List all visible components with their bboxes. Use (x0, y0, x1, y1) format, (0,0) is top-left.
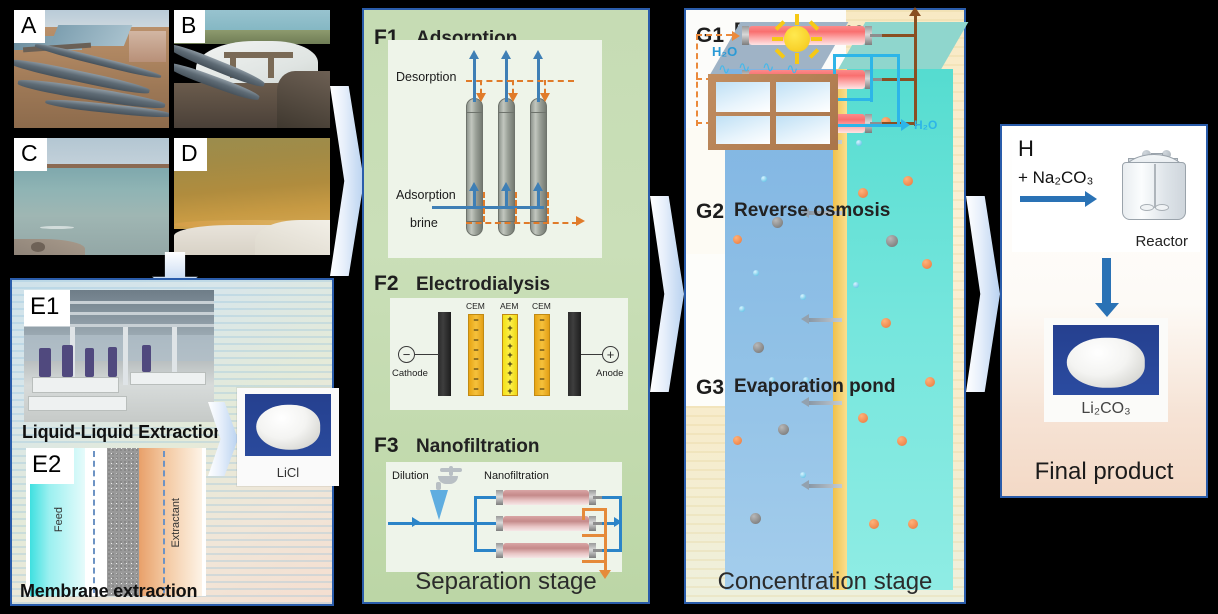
powder-pile (1067, 338, 1145, 388)
membrane-tag-aem: AEM (500, 301, 518, 311)
extraction-panel: E1 Liquid-Liquid Extraction Feed Extract… (10, 278, 334, 606)
spent-brine-riser (483, 192, 485, 222)
pond-cell (776, 82, 830, 112)
extractant-label: Extractant (170, 498, 182, 548)
feed-branch (474, 549, 496, 552)
brine-pond-pipes-photo: B (174, 10, 330, 128)
permeate-line (833, 98, 873, 101)
panel-label-f2: F2 (374, 272, 399, 296)
brown-brine-salt-crust-photo: D (174, 138, 330, 255)
powder-pile (256, 405, 320, 450)
nanofiltration-module (503, 516, 589, 531)
spent-brine-arrowhead (576, 216, 585, 226)
anode-wire (581, 354, 603, 355)
interface-line (93, 451, 95, 593)
concentration-stage-footer: Concentration stage (686, 568, 964, 596)
feed-solution-chamber (847, 69, 953, 590)
liquid-liquid-extraction-plant-photo: E1 (24, 290, 214, 422)
membrane-charge: − (539, 365, 544, 374)
photo-label-d: D (174, 138, 207, 171)
f3-title: Nanofiltration (416, 436, 540, 458)
concentrate-line (582, 560, 606, 563)
ion-particle (858, 413, 868, 423)
water-flux-arrow (808, 318, 842, 322)
membrane-charge: − (539, 346, 544, 355)
mixer-unit (108, 347, 118, 377)
permeate-header (897, 54, 900, 126)
feed-branch (696, 34, 732, 36)
photo-label-c: C (14, 138, 47, 171)
panel-label-g2: G2 (696, 200, 724, 224)
pond-cell (716, 116, 770, 144)
nanofiltration-diagram: Dilution Nanofiltration (386, 462, 622, 572)
final-product-inset: Li₂CO₃ (1044, 318, 1168, 422)
membrane-charge: − (473, 326, 478, 335)
separation-stage-footer: Separation stage (364, 568, 648, 596)
permeate-riser (870, 54, 873, 102)
electrodialysis-diagram: CEM AEM CEM − − − − − − − − + + + + + + … (390, 298, 628, 410)
membrane-tag-cem-2: CEM (532, 301, 551, 311)
membrane-extraction-diagram: Feed Extractant E2 (26, 448, 206, 596)
desorption-feed-line (466, 80, 574, 82)
module-end-cap (496, 490, 503, 505)
reactor-step: H + Na₂CO₃ Reactor (1012, 134, 1200, 252)
adsorption-diagram: Desorption Adsorption brine (388, 40, 602, 258)
concentrate-line (582, 534, 606, 537)
sun-icon (795, 14, 799, 25)
mixer-unit (62, 345, 73, 377)
dirt-mound (277, 71, 330, 128)
source-photo-grid: A B C D (14, 10, 330, 255)
reactor-label: Reactor (1135, 233, 1188, 250)
interface-line (163, 451, 165, 593)
brine-canal-pipes-photo: A (14, 10, 169, 128)
water-flux-arrow (808, 484, 842, 488)
stirrer-shaft (1154, 164, 1156, 208)
brine-inlet-arrow (473, 190, 476, 208)
licl-caption: LiCl (237, 465, 339, 480)
nanofiltration-module (503, 543, 589, 558)
e2-caption: Membrane extraction (20, 581, 197, 602)
nanofiltration-module (503, 490, 589, 505)
membrane-charge: − (539, 316, 544, 325)
settler-tank (28, 396, 127, 412)
reagent-feed-arrow (1020, 196, 1086, 202)
water-vapor-label: H₂O (712, 44, 737, 59)
brine-label: brine (410, 216, 438, 230)
concentrate-riser (604, 508, 607, 558)
lithium-carbonate-powder-photo (1053, 325, 1159, 395)
vapor-squiggle: ∿ (762, 60, 775, 75)
canal-water (50, 25, 133, 46)
brine-inlet-arrow (505, 190, 508, 208)
sun-icon (784, 26, 810, 52)
cathode-terminal: − (398, 346, 415, 363)
dilution-spray (430, 490, 448, 520)
membrane-charge: − (539, 385, 544, 394)
dilution-label: Dilution (392, 470, 429, 482)
water-molecule (856, 140, 862, 146)
module-end-cap (742, 26, 749, 45)
nanofiltration-module-label: Nanofiltration (484, 470, 549, 482)
product-formula-label: Li₂CO₃ (1044, 400, 1168, 418)
g2-title: Reverse osmosis (734, 200, 890, 222)
pond-cell (776, 116, 830, 144)
module-end-cap (496, 516, 503, 531)
concentrate-line (582, 508, 606, 511)
membrane-charge: + (507, 387, 512, 396)
product-flow-arrow (1102, 258, 1111, 304)
feed-arrowhead (412, 517, 420, 527)
desorption-down-arrow (480, 80, 482, 94)
rock (31, 242, 45, 251)
sun-icon (811, 37, 822, 41)
membrane-charge: − (539, 355, 544, 364)
module-end-cap (496, 543, 503, 558)
feed-label: Feed (53, 507, 65, 532)
stirrer-blade (1140, 204, 1154, 211)
concentrate-arrowhead (909, 7, 921, 16)
cation-exchange-membrane-2: − − − − − − − − (534, 314, 550, 396)
anode-plate (568, 312, 581, 396)
membrane-charge: − (473, 375, 478, 384)
mixer-unit (39, 348, 50, 377)
desorption-down-arrow (544, 80, 546, 94)
flow-arrow-separation-to-concentration (650, 196, 684, 392)
permeate-outlet (833, 124, 903, 127)
membrane-charge: − (539, 326, 544, 335)
water-flux-arrow (808, 401, 842, 405)
feed-branch (474, 496, 496, 499)
membrane-charge: − (473, 316, 478, 325)
adsorption-column (466, 98, 483, 236)
desorption-label: Desorption (396, 70, 456, 84)
mixer-unit (142, 345, 152, 371)
cathode-label: Cathode (392, 368, 428, 379)
permeate-arrowhead (901, 119, 910, 131)
desorption-down-arrow (512, 80, 514, 94)
ion-particle (881, 318, 891, 328)
panel-label-h: H (1018, 136, 1034, 162)
ion-particle (903, 176, 913, 186)
porous-membrane (107, 448, 139, 596)
photo-label-a: A (14, 10, 45, 43)
solute-particle (753, 342, 764, 353)
reagent-label: + Na₂CO₃ (1018, 168, 1093, 188)
salt-lake-shoreline-photo: C (14, 138, 169, 255)
cation-exchange-membrane-1: − − − − − − − − (468, 314, 484, 396)
permeate-water-label: H₂O (914, 118, 937, 132)
ion-particle (922, 259, 932, 269)
faucet-icon (438, 476, 458, 484)
panel-label-g3: G3 (696, 376, 724, 400)
water-molecule (739, 306, 745, 312)
membrane-charge: − (473, 355, 478, 364)
anode-terminal: + (602, 346, 619, 363)
feed-branch (474, 522, 496, 525)
final-product-panel: H + Na₂CO₃ Reactor Li₂CO₃ Final product (1000, 124, 1208, 498)
stirrer-blade (1155, 204, 1169, 211)
concentrate-line (882, 34, 916, 37)
reactor-vessel-icon (1122, 148, 1186, 220)
concentration-stage-panel: G1 Forward osmosis (684, 8, 966, 604)
adsorption-column (498, 98, 515, 236)
feed-line (388, 522, 476, 525)
water-molecule (761, 176, 767, 182)
licl-powder-photo (245, 394, 331, 456)
membrane-charge: − (473, 346, 478, 355)
permeate-arrowhead (614, 517, 622, 527)
support-column (123, 327, 128, 385)
vapor-squiggle: ∿ (738, 60, 751, 75)
feed-manifold (696, 34, 698, 126)
panel-label-e2: E2 (26, 448, 74, 484)
faucet-icon (436, 482, 441, 490)
membrane-charge: − (539, 375, 544, 384)
membrane-charge: − (539, 336, 544, 345)
adsorption-column (530, 98, 547, 236)
brine-inlet-arrow (537, 190, 540, 208)
spent-brine-riser (515, 192, 517, 222)
pump-house (129, 31, 166, 62)
pond-cell (716, 82, 770, 112)
settler-tank (130, 372, 206, 385)
water-molecule (800, 472, 806, 478)
licl-product-inset: LiCl (237, 388, 339, 486)
membrane-tag-cem-1: CEM (466, 301, 485, 311)
wooden-post (268, 52, 274, 78)
flow-arrow-photos-to-separation (330, 86, 364, 276)
spent-brine-outlet (466, 222, 578, 224)
brine-feed-line (432, 206, 544, 209)
cathode-wire (415, 354, 439, 355)
faucet-icon (449, 466, 453, 476)
f2-title: Electrodialysis (416, 274, 550, 296)
permeate-line (833, 54, 899, 57)
panel-label-f3: F3 (374, 434, 399, 458)
separation-stage-panel: F1 Adsorption Desorption Adsorption brin… (362, 8, 650, 604)
ion-particle (858, 188, 868, 198)
flow-arrow-concentration-to-final (966, 196, 1000, 392)
sun-icon (772, 37, 783, 41)
anion-exchange-membrane: + + + + + + + + + (502, 314, 518, 396)
membrane-charge: − (473, 385, 478, 394)
photo-label-b: B (174, 10, 205, 43)
panel-label-e1: E1 (24, 290, 70, 326)
spent-brine-riser (547, 192, 549, 222)
cathode-plate (438, 312, 451, 396)
membrane-charge: − (473, 336, 478, 345)
e1-caption: Liquid-Liquid Extraction (22, 422, 242, 443)
membrane-charge: − (473, 365, 478, 374)
settler-tank (32, 377, 119, 393)
final-product-footer: Final product (1002, 458, 1206, 486)
mixer-unit (85, 348, 95, 377)
concentrate-header (914, 16, 917, 126)
g3-title: Evaporation pond (734, 376, 896, 398)
anode-label: Anode (596, 368, 623, 379)
adsorption-label: Adsorption (396, 188, 456, 202)
